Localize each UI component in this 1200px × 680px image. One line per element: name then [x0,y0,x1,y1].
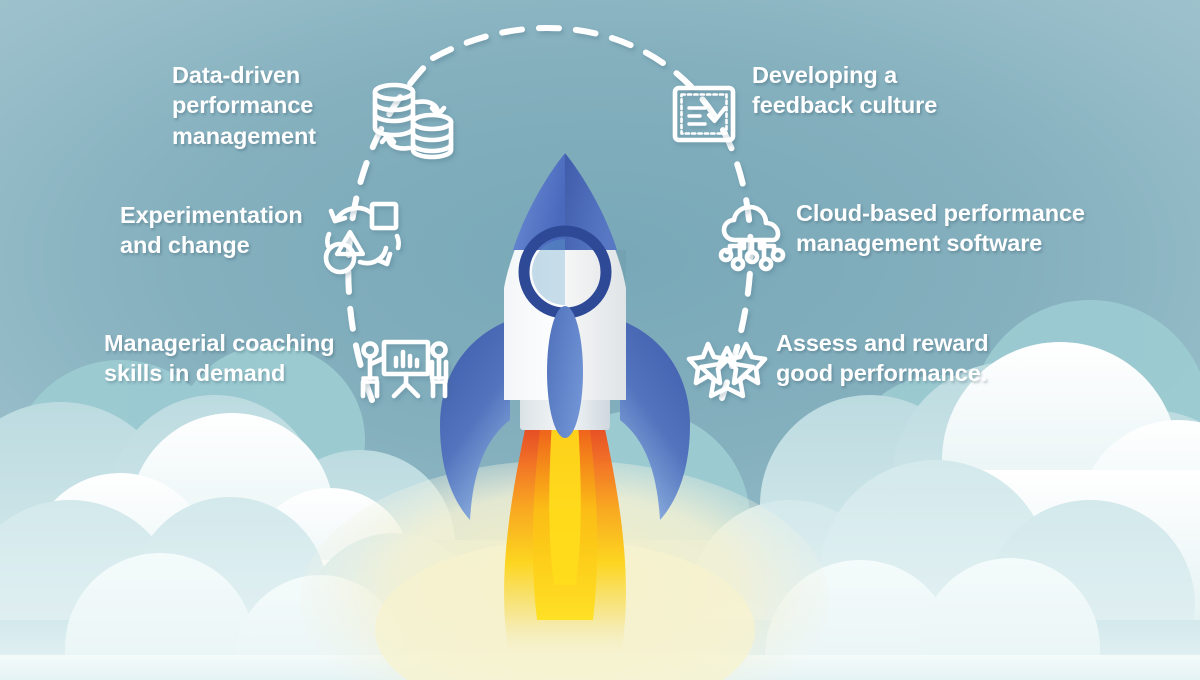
stars-icon [688,338,766,400]
label-experimentation: Experimentation and change [120,200,335,261]
infographic-canvas: Data-driven performance management Exper… [0,0,1200,680]
rocket-center-fin [547,306,583,438]
rocket-flame [504,420,626,650]
rocket-fin-left [440,320,510,520]
rocket-fin-right [620,320,690,520]
label-coaching: Managerial coaching skills in demand [104,328,362,389]
database-sync-icon [368,76,458,164]
certificate-check-icon [672,85,736,143]
cloud-network-icon [718,204,786,274]
label-cloud-software: Cloud-based performance management softw… [796,198,1116,259]
label-feedback: Developing a feedback culture [752,60,982,121]
label-assess-reward: Assess and reward good performance. [776,328,1026,389]
presentation-coaching-icon [358,338,450,400]
label-data-driven: Data-driven performance management [172,60,352,151]
